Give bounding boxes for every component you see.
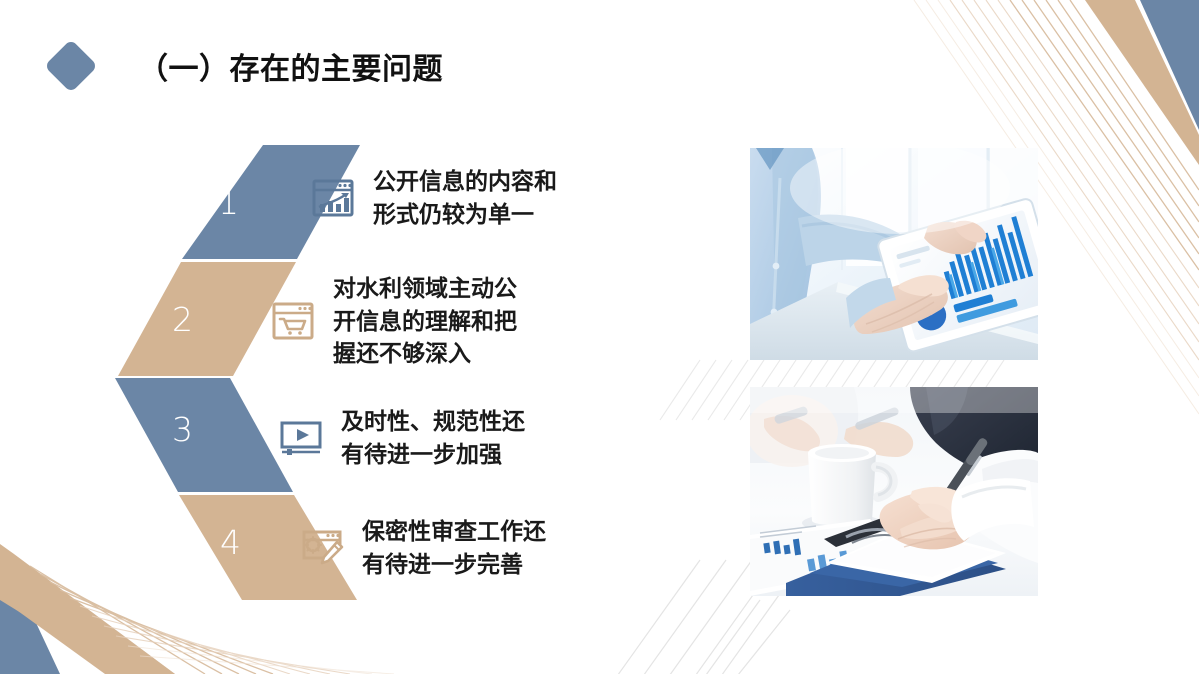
page-title: （一）存在的主要问题	[138, 44, 443, 88]
chevron-number-1: 1	[218, 183, 239, 222]
video-player-icon	[279, 416, 323, 460]
chevron-number-4: 4	[220, 523, 241, 562]
photo-meeting-writing-image	[750, 387, 1038, 596]
chevron-shape-3	[115, 378, 293, 492]
photo-meeting-writing	[750, 387, 1038, 596]
list-item-2: 对水利领域主动公 开信息的理解和把 握还不够深入	[271, 272, 517, 370]
chevron-shape-2	[118, 262, 296, 376]
photo-tablet-charts-image	[750, 148, 1038, 360]
chevron-number-2: 2	[172, 300, 193, 339]
photo-tablet-charts	[750, 148, 1038, 360]
chevron-number-3: 3	[172, 410, 193, 449]
slide-canvas: （一）存在的主要问题 1 2 3 4	[0, 0, 1199, 674]
list-item-4: 保密性审查工作还 有待进一步完善	[300, 515, 546, 580]
diamond-bullet-icon	[44, 39, 98, 93]
list-item-1-text: 公开信息的内容和 形式仍较为单一	[373, 165, 557, 230]
list-item-3: 及时性、规范性还 有待进一步加强	[279, 405, 525, 470]
list-item-3-text: 及时性、规范性还 有待进一步加强	[341, 405, 525, 470]
browser-edit-gear-icon	[300, 526, 344, 570]
list-item-1: 公开信息的内容和 形式仍较为单一	[311, 165, 557, 230]
page-title-row: （一）存在的主要问题	[52, 38, 443, 94]
list-item-2-text: 对水利领域主动公 开信息的理解和把 握还不够深入	[333, 272, 517, 370]
browser-shopping-cart-icon	[271, 299, 315, 343]
browser-bar-chart-icon	[311, 176, 355, 220]
list-item-4-text: 保密性审查工作还 有待进一步完善	[362, 515, 546, 580]
